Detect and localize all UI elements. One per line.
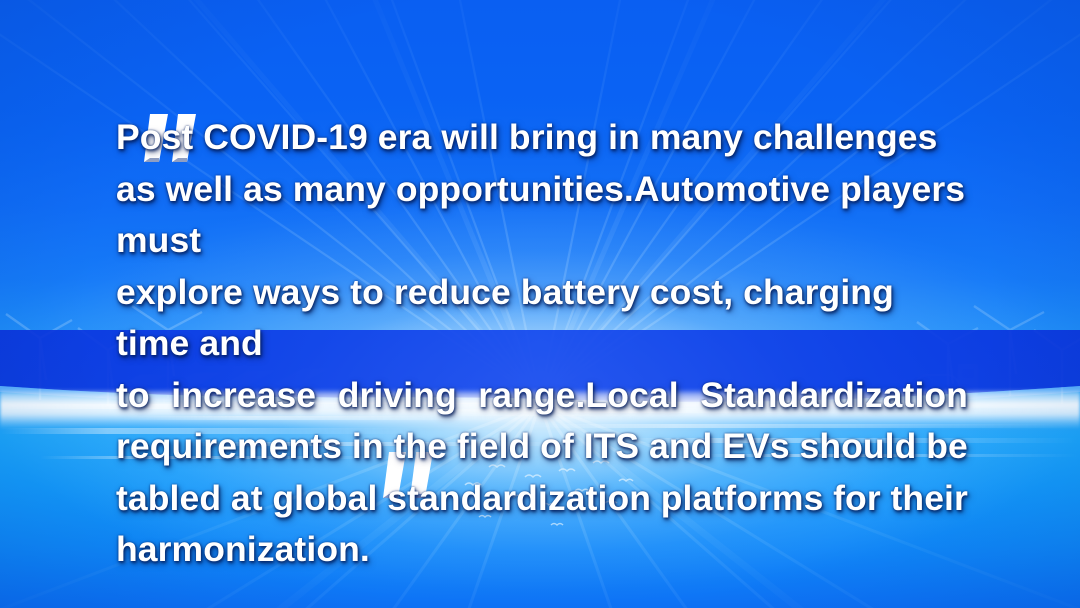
quote-slide: E xyxy=(0,0,1080,608)
quote-line-2: as well as many opportunities.Automotive… xyxy=(116,164,968,267)
quote-line-1: Post COVID-19 era will bring in many cha… xyxy=(116,112,968,164)
quote-line-5: requirementsinthefieldofITSandEVsshouldb… xyxy=(116,421,968,473)
quote-text-block: Post COVID-19 era will bring in many cha… xyxy=(116,112,968,576)
quote-line-4: toincreasedrivingrange.LocalStandardizat… xyxy=(116,370,968,422)
quote-line-3: explore ways to reduce battery cost, cha… xyxy=(116,267,968,370)
quote-line-7: harmonization. xyxy=(116,524,968,576)
quote-line-6: tabledatglobalstandardizationplatformsfo… xyxy=(116,473,968,525)
